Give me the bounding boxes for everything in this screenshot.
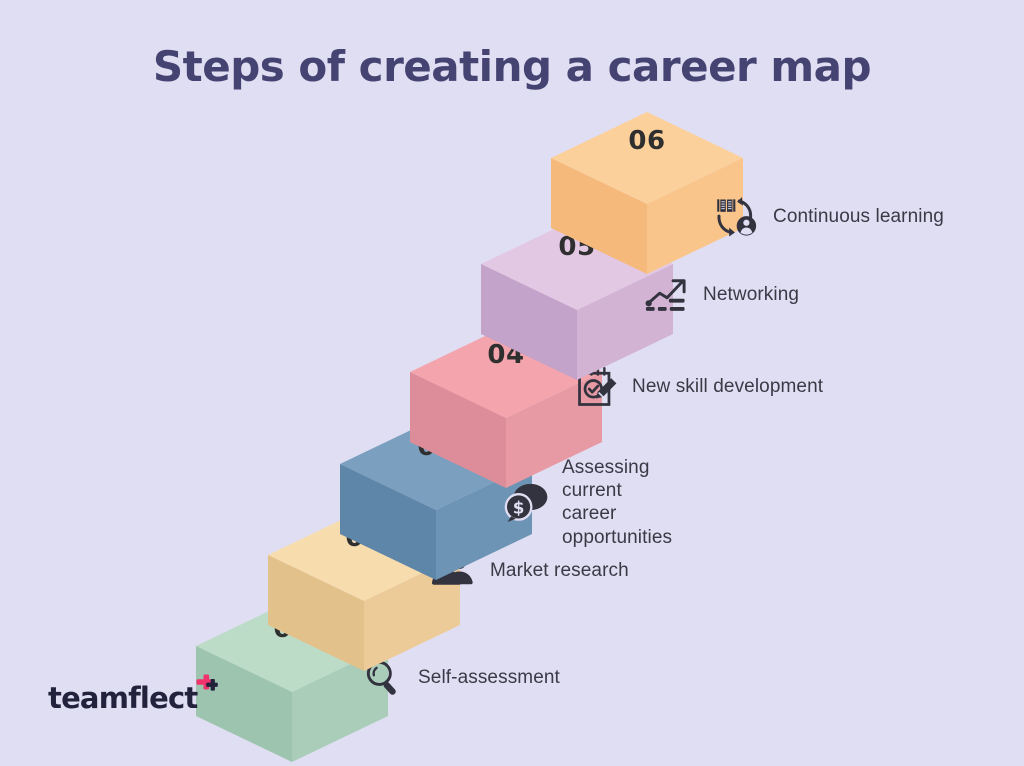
brand-logo-text: teamflect <box>48 684 197 713</box>
brand-logo[interactable]: teamflect <box>48 684 221 713</box>
step-meta-06: Continuous learning <box>715 194 944 240</box>
infographic-canvas: Steps of creating a career map 01 Self-a… <box>0 0 1024 746</box>
step-label-06: Continuous learning <box>773 205 944 228</box>
step-label-05: Networking <box>703 283 799 306</box>
step-cube-06[interactable]: 06 <box>547 108 747 278</box>
plus-mark-icon <box>195 674 221 700</box>
book-person-cycle-icon <box>715 194 761 240</box>
step-meta-05: Networking <box>645 272 799 318</box>
growth-chart-arrow-icon <box>645 272 691 318</box>
svg-text:$: $ <box>513 497 525 517</box>
page-title: Steps of creating a career map <box>0 42 1024 91</box>
